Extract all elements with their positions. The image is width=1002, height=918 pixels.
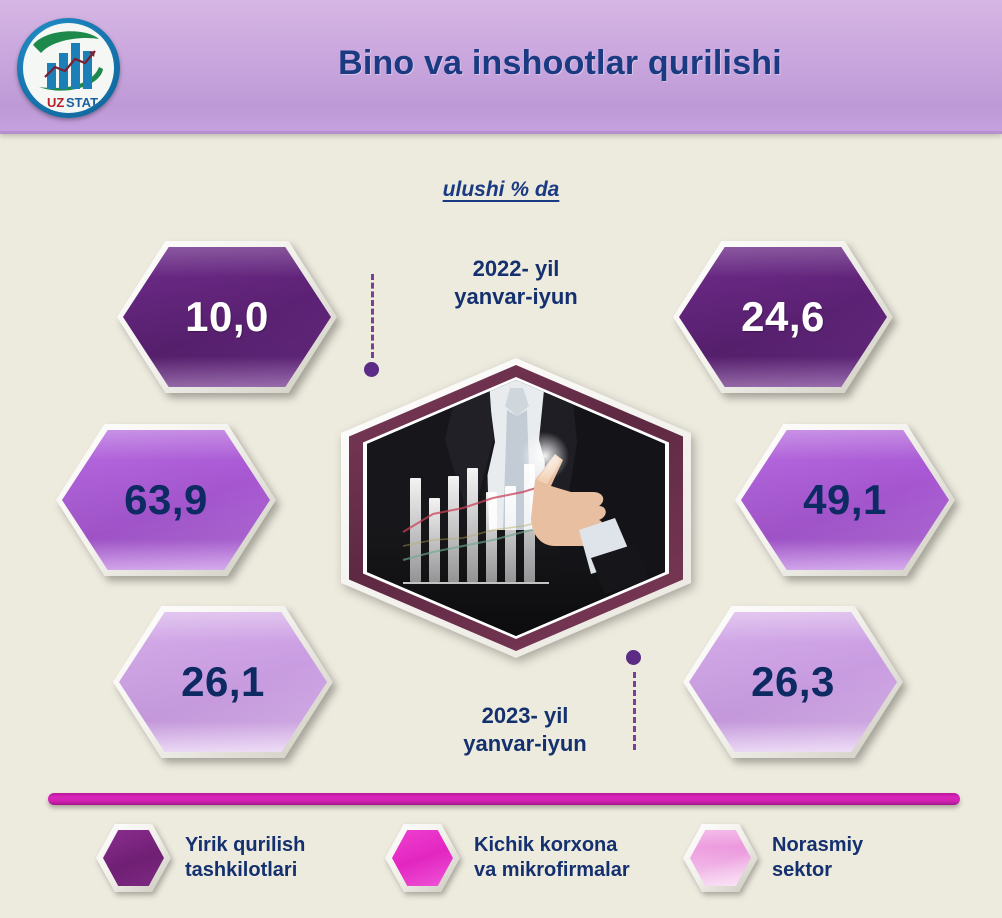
stat-hex-2023-kichik: 49,1	[735, 424, 955, 576]
year-label-2022-line2: yanvar-iyun	[401, 283, 631, 311]
stat-hex-2022-kichik: 63,9	[56, 424, 276, 576]
stat-value: 24,6	[673, 241, 893, 393]
stat-hex-2023-yirik: 24,6	[673, 241, 893, 393]
dark-purple-hexagon-icon	[96, 824, 171, 892]
legend-label-line1: Norasmiy	[772, 833, 863, 858]
infographic-page: UZ STAT Bino va inshootlar qurilishi ulu…	[0, 0, 1002, 918]
uzstat-logo: UZ STAT	[17, 18, 120, 118]
page-title: Bino va inshootlar qurilishi	[160, 44, 960, 83]
legend-label: Yirik qurilish tashkilotlari	[185, 833, 305, 883]
connector-line-top	[371, 274, 374, 358]
legend-divider-bar	[48, 793, 960, 805]
magenta-hexagon-icon	[385, 824, 460, 892]
year-label-2023-line2: yanvar-iyun	[410, 730, 640, 758]
legend-label: Norasmiy sektor	[772, 833, 863, 883]
stat-value: 26,3	[683, 606, 903, 758]
header-underline	[0, 131, 1002, 134]
year-label-2022-line1: 2022- yil	[401, 255, 631, 283]
legend-item-yirik: Yirik qurilish tashkilotlari	[96, 824, 305, 892]
legend-label-line2: sektor	[772, 858, 863, 883]
stat-hex-2023-norasmiy: 26,3	[683, 606, 903, 758]
year-label-2023: 2023- yil yanvar-iyun	[410, 702, 640, 758]
stat-value: 49,1	[735, 424, 955, 576]
legend-label-line2: va mikrofirmalar	[474, 858, 630, 883]
year-label-2023-line1: 2023- yil	[410, 702, 640, 730]
stat-hex-2022-norasmiy: 26,1	[113, 606, 333, 758]
center-photo-hexagon	[341, 358, 691, 658]
subtitle: ulushi % da	[0, 178, 1002, 202]
legend-item-norasmiy: Norasmiy sektor	[683, 824, 863, 892]
stat-value: 63,9	[56, 424, 276, 576]
logo-face: UZ STAT	[23, 23, 114, 113]
logo-graphic: UZ STAT	[23, 23, 114, 113]
legend-label-line2: tashkilotlari	[185, 858, 305, 883]
pink-hexagon-icon	[683, 824, 758, 892]
legend-label: Kichik korxona va mikrofirmalar	[474, 833, 630, 883]
connector-line-bottom	[633, 672, 636, 750]
year-label-2022: 2022- yil yanvar-iyun	[401, 255, 631, 311]
svg-text:UZ: UZ	[47, 95, 64, 110]
stat-value: 10,0	[117, 241, 337, 393]
legend-item-kichik: Kichik korxona va mikrofirmalar	[385, 824, 630, 892]
stat-hex-2022-yirik: 10,0	[117, 241, 337, 393]
legend-label-line1: Yirik qurilish	[185, 833, 305, 858]
stat-value: 26,1	[113, 606, 333, 758]
legend-label-line1: Kichik korxona	[474, 833, 630, 858]
